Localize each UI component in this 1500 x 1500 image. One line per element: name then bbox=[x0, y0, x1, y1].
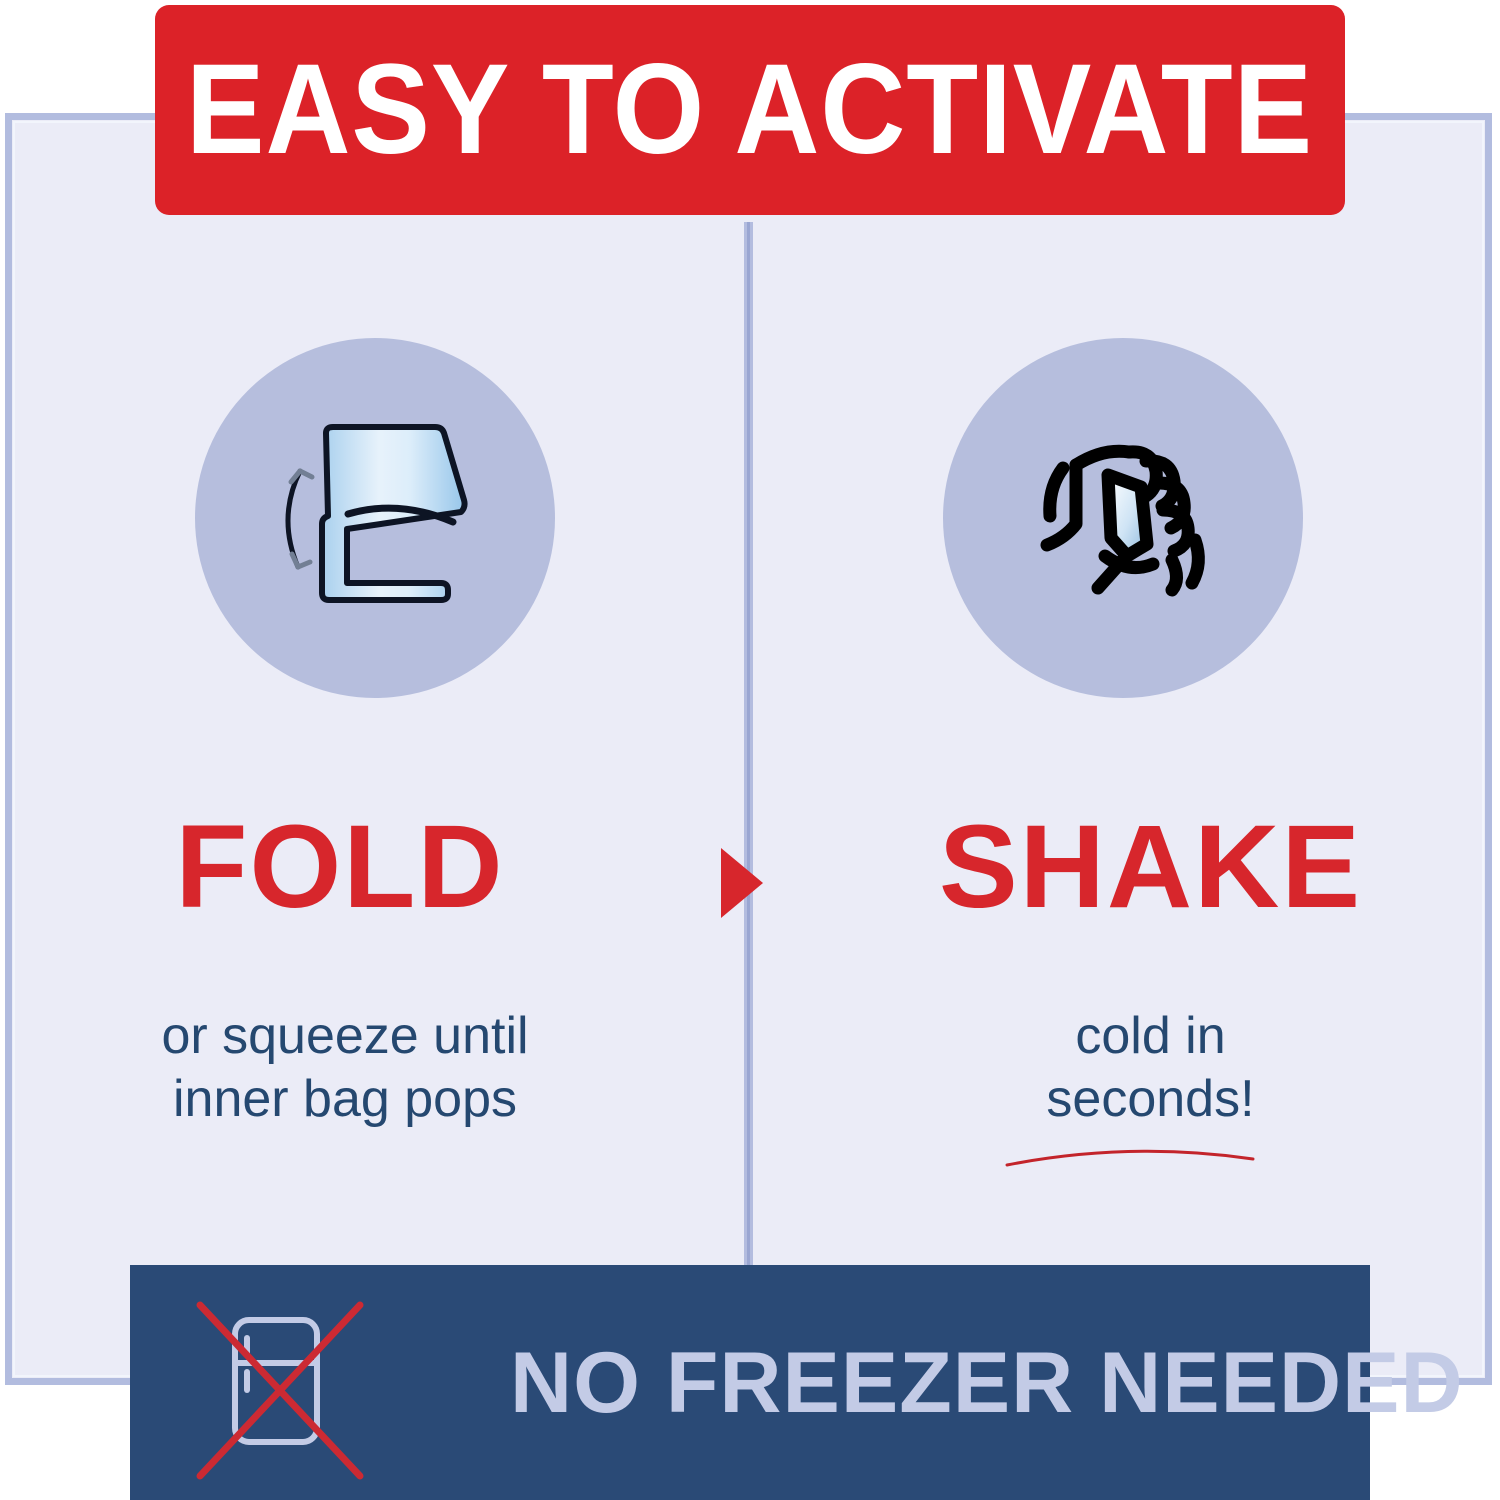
step-column-fold: FOLD or squeeze until inner bag pops bbox=[5, 230, 745, 1250]
shake-icon-circle bbox=[943, 338, 1303, 698]
header-banner: EASY TO ACTIVATE bbox=[155, 5, 1345, 215]
step-column-shake: SHAKE cold in seconds! bbox=[753, 230, 1493, 1250]
fold-pouch-icon bbox=[195, 338, 555, 698]
step-word-shake: SHAKE bbox=[753, 808, 1493, 926]
shaking-hand-pouch-icon bbox=[943, 338, 1303, 698]
step-word-fold: FOLD bbox=[5, 808, 745, 926]
no-freezer-icon bbox=[190, 1290, 370, 1490]
infographic-root: EASY TO ACTIVATE bbox=[0, 0, 1500, 1500]
page-title: EASY TO ACTIVATE bbox=[186, 46, 1313, 174]
step-divider bbox=[744, 222, 753, 1265]
underline-swoosh-icon bbox=[1005, 1145, 1255, 1169]
footer-text: NO FREEZER NEEDED bbox=[510, 1340, 1464, 1426]
step-caption-fold: or squeeze until inner bag pops bbox=[5, 1005, 745, 1132]
fold-icon-circle bbox=[195, 338, 555, 698]
step-caption-shake: cold in seconds! bbox=[753, 1005, 1493, 1132]
